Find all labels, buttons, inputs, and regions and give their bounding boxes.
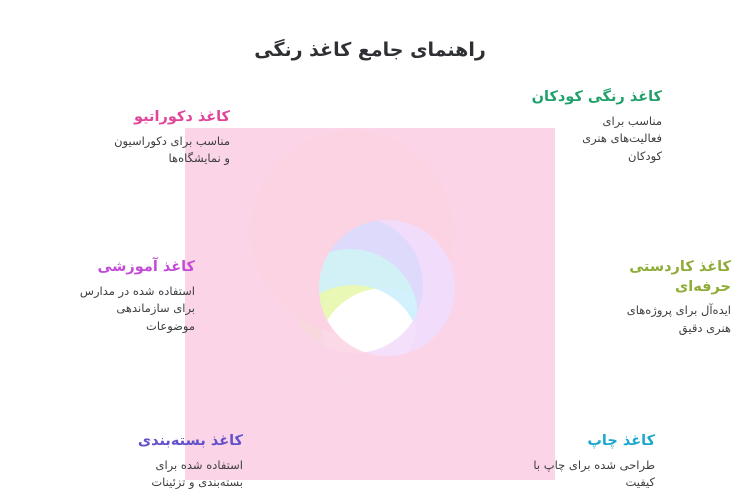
callout-kids-title: کاغذ رنگی کودکان: [487, 88, 662, 108]
callout-kids-body: مناسب برای فعالیت‌های هنری کودکان: [487, 113, 662, 166]
callout-decorative-title: کاغذ دکوراتیو: [55, 108, 230, 128]
callout-craft-body: ایده‌آل برای پروژه‌های هنری دقیق: [556, 302, 731, 338]
callout-decorative[interactable]: کاغذ دکوراتیو مناسب برای دکوراسیون و نما…: [55, 108, 230, 168]
pinwheel-center-hole: [344, 292, 396, 344]
callout-print[interactable]: کاغذ چاپ طراحی شده برای چاپ با کیفیت: [480, 432, 655, 492]
pinwheel-diagram: [185, 128, 555, 480]
callout-craft[interactable]: کاغذ کاردستی حرفه‌ای ایده‌آل برای پروژه‌…: [556, 258, 731, 338]
callout-education[interactable]: کاغذ آموزشی استفاده شده در مدارس برای سا…: [20, 258, 195, 336]
callout-education-title: کاغذ آموزشی: [20, 258, 195, 278]
callout-print-title: کاغذ چاپ: [480, 432, 655, 452]
callout-education-body: استفاده شده در مدارس برای سازماندهی موضو…: [20, 283, 195, 336]
callout-print-body: طراحی شده برای چاپ با کیفیت: [480, 457, 655, 493]
callout-packaging-body: استفاده شده برای بسته‌بندی و تزئینات: [68, 457, 243, 493]
callout-kids[interactable]: کاغذ رنگی کودکان مناسب برای فعالیت‌های ه…: [487, 88, 662, 166]
callout-packaging[interactable]: کاغذ بسته‌بندی استفاده شده برای بسته‌بند…: [68, 432, 243, 492]
callout-craft-title: کاغذ کاردستی حرفه‌ای: [556, 258, 731, 297]
callout-packaging-title: کاغذ بسته‌بندی: [68, 432, 243, 452]
pinwheel-svg: [185, 128, 555, 480]
page-title: راهنمای جامع کاغذ رنگی: [0, 38, 740, 63]
callout-decorative-body: مناسب برای دکوراسیون و نمایشگاه‌ها: [55, 133, 230, 169]
